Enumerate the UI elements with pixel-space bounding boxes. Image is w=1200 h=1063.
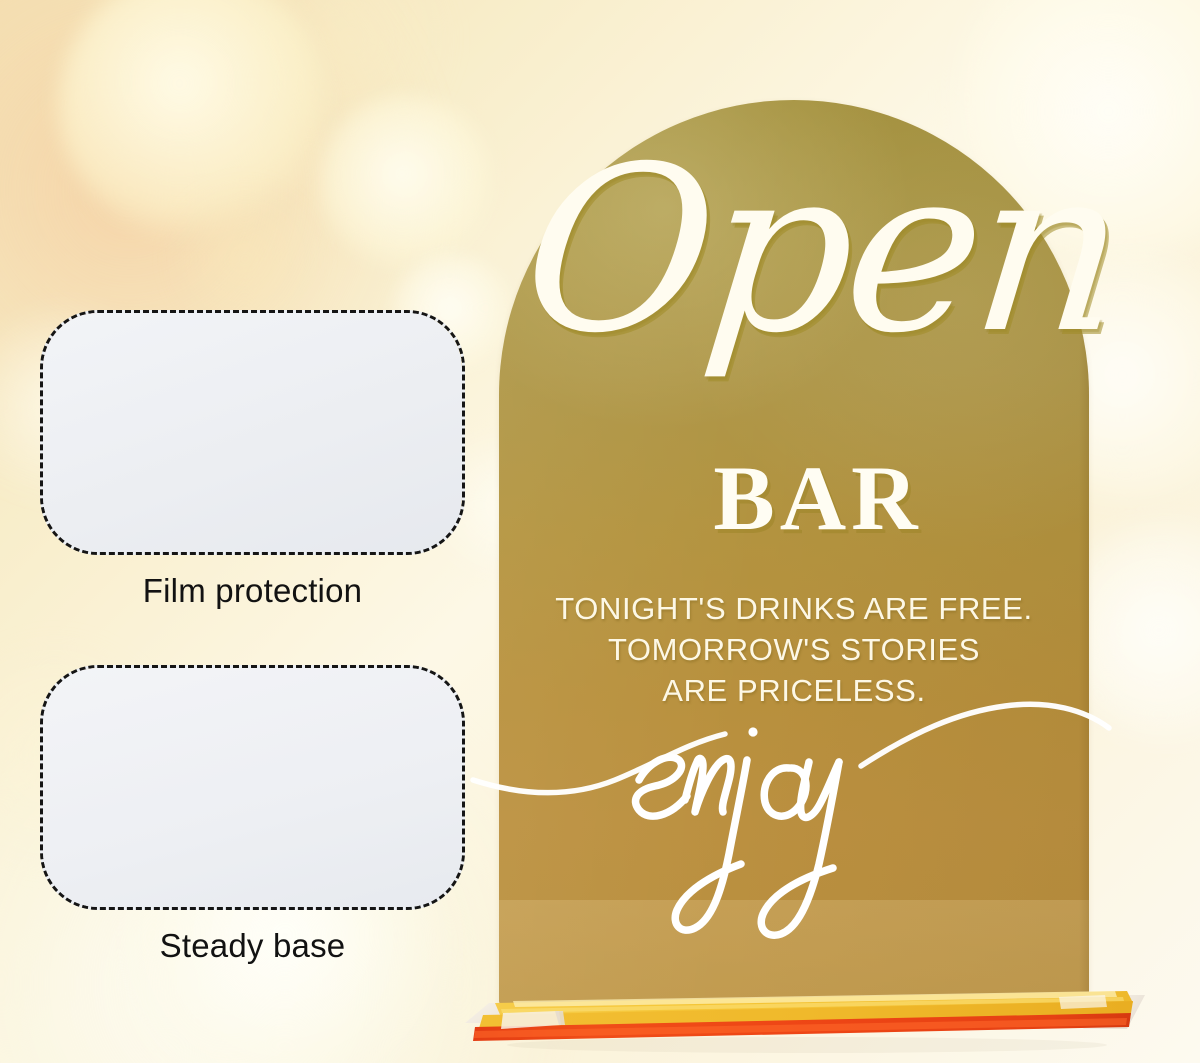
sign-text-stack: Open BAR TONIGHT'S DRINKS ARE FREE. TOMO… bbox=[499, 100, 1089, 1005]
stand-illustration bbox=[455, 973, 1155, 1063]
product-image-canvas: Film protection bbox=[0, 0, 1200, 1063]
enjoy-script-svg bbox=[489, 688, 1109, 988]
tagline-line-1: TONIGHT'S DRINKS ARE FREE. bbox=[499, 588, 1089, 629]
feature-panel-steady-base: Steady base bbox=[40, 665, 465, 964]
product-arch-sign: Open BAR TONIGHT'S DRINKS ARE FREE. TOMO… bbox=[455, 80, 1155, 1063]
feature-image-frame bbox=[40, 665, 465, 910]
feature-image-frame bbox=[40, 310, 465, 555]
film-protection-photo bbox=[43, 313, 462, 552]
sign-script-footer-group bbox=[489, 688, 1109, 988]
sign-serif-headline: BAR bbox=[499, 452, 1089, 544]
steady-base-photo bbox=[43, 668, 462, 907]
feature-panel-film-protection: Film protection bbox=[40, 310, 465, 609]
feature-caption-steady-base: Steady base bbox=[40, 928, 465, 964]
feature-caption-film-protection: Film protection bbox=[40, 573, 465, 609]
sign-stand-base bbox=[455, 973, 1155, 1063]
photo-backdrop bbox=[43, 313, 462, 552]
tagline-line-2: TOMORROW'S STORIES bbox=[499, 629, 1089, 670]
photo-backdrop bbox=[43, 668, 462, 907]
sign-panel: Open BAR TONIGHT'S DRINKS ARE FREE. TOMO… bbox=[499, 100, 1089, 1005]
sign-script-headline: Open bbox=[515, 136, 1079, 364]
